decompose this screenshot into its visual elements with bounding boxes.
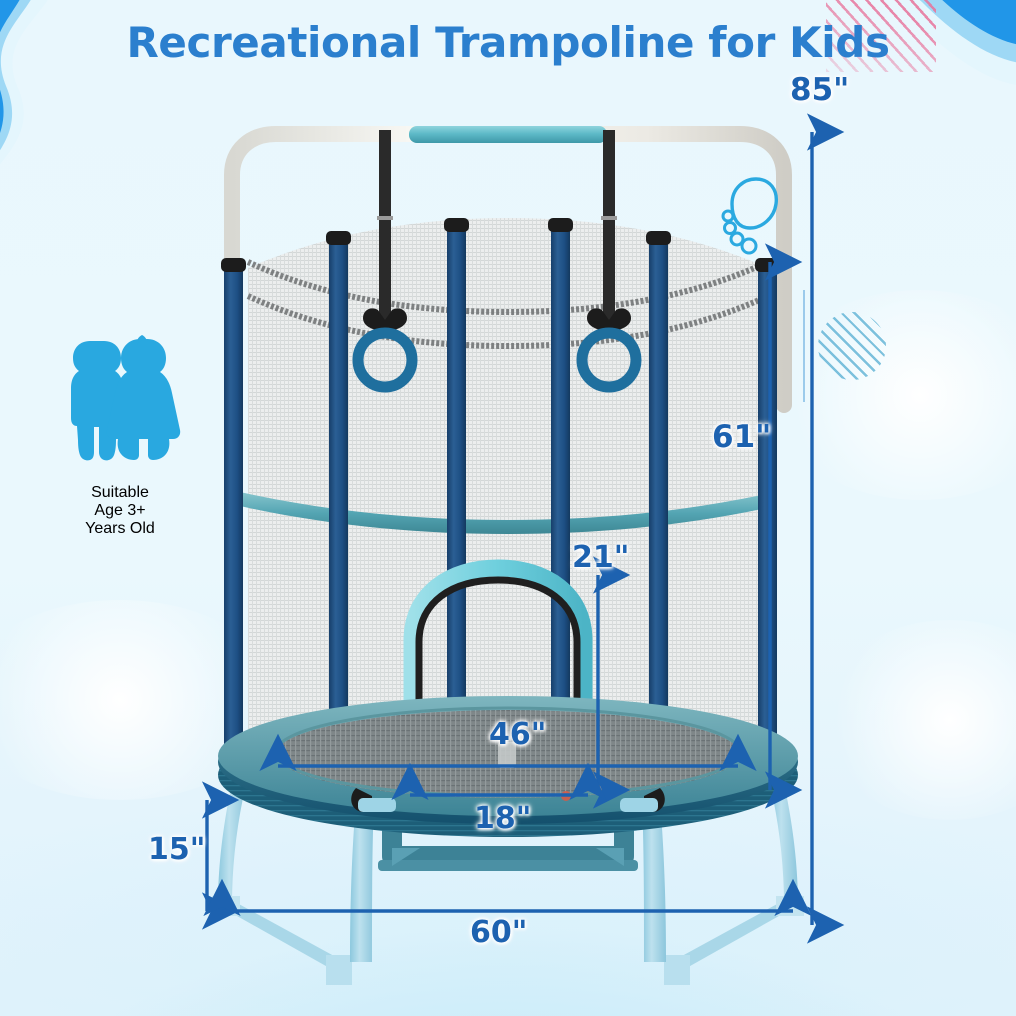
dimension-label-enclosure-height: 61" [712, 419, 771, 455]
dimension-label-overall-height: 85" [790, 72, 849, 108]
handlebar-grip [409, 126, 607, 143]
footprint-icon [723, 179, 776, 253]
dimension-label-arch-height: 21" [572, 540, 629, 575]
dimension-label-arch-width: 18" [474, 801, 531, 836]
dimension-label-overall-width: 60" [470, 915, 527, 950]
dimension-label-leg-height: 15" [148, 832, 205, 867]
dimension-label-mat-diameter: 46" [489, 717, 546, 752]
